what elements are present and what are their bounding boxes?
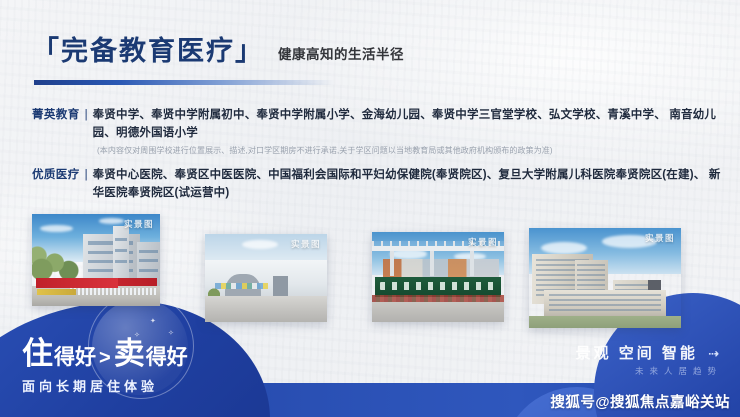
color-panel — [215, 283, 269, 289]
photo-school-main[interactable]: 实景图 — [32, 214, 160, 306]
cloud-shape — [541, 242, 587, 254]
education-disclaimer: (本内容仅对周围学校进行位置展示、描述,对口学区期房不进行承诺,关于学区问题以当… — [97, 144, 722, 158]
medical-separator: | — [80, 166, 93, 184]
bridge-pier — [430, 251, 434, 276]
education-label: 菁英教育 — [32, 106, 80, 124]
arrow-right-icon: ⇢ — [705, 346, 722, 361]
title-accent-bar — [34, 80, 334, 85]
education-separator: | — [80, 106, 93, 124]
slide-header: 「完备教育医疗」 健康高知的生活半径 — [32, 38, 404, 65]
footer-keywords: 景观 空间 智能 — [576, 345, 698, 362]
photo-hospital-campus[interactable]: 实景图 — [529, 228, 681, 328]
photo-kindergarten[interactable]: 实景图 — [205, 234, 327, 322]
photo-stamp: 实景图 — [468, 236, 498, 248]
footer-keywords-row: 景观 空间 智能 ⇢ — [576, 346, 722, 361]
slogan-word-sell: 卖 — [114, 338, 145, 369]
slogan-tagline: 面向长期居住体验 — [22, 376, 188, 395]
medical-list: 奉贤中心医院、奉贤区中医医院、中国福利会国际和平妇幼保健院(奉贤院区)、复旦大学… — [93, 166, 722, 202]
signboard-text — [380, 282, 496, 290]
bridge-pier — [470, 251, 474, 276]
page-subtitle: 健康高知的生活半径 — [278, 43, 404, 65]
photo-ground — [529, 316, 681, 328]
education-list-line1: 奉贤中学、奉贤中学附属初中、奉贤中学附属小学、金海幼儿园、奉贤中学三官堂学校、弘… — [93, 109, 666, 121]
education-group: 菁英教育 | 奉贤中学、奉贤中学附属初中、奉贤中学附属小学、金海幼儿园、奉贤中学… — [32, 106, 722, 158]
info-block: 菁英教育 | 奉贤中学、奉贤中学附属初中、奉贤中学附属小学、金海幼儿园、奉贤中学… — [32, 106, 722, 204]
photo-stamp: 实景图 — [291, 238, 321, 250]
education-list: 奉贤中学、奉贤中学附属初中、奉贤中学附属小学、金海幼儿园、奉贤中学三官堂学校、弘… — [93, 106, 722, 142]
photo-ground — [372, 302, 504, 322]
sparkle-icon: ✧ — [168, 329, 174, 337]
medical-label: 优质医疗 — [32, 166, 80, 184]
sparkle-icon: ✦ — [150, 317, 156, 325]
photo-ground — [205, 296, 327, 322]
red-banner — [36, 278, 118, 287]
footer-slogan-left: 住 得好 > 卖 得好 面向长期居住体验 — [22, 338, 188, 395]
slide-canvas: 「完备教育医疗」 健康高知的生活半径 菁英教育 | 奉贤中学、奉贤中学附属初中、… — [0, 0, 740, 417]
medical-group: 优质医疗 | 奉贤中心医院、奉贤区中医医院、中国福利会国际和平妇幼保健院(奉贤院… — [32, 166, 722, 202]
cloud-shape — [99, 218, 125, 224]
slogan-line-1: 住 得好 > 卖 得好 — [22, 338, 188, 369]
fence-shape — [70, 288, 157, 295]
slogan-word-live: 住 — [22, 338, 53, 369]
podium-shape — [544, 290, 666, 316]
slogan-word-well-2: 得好 — [146, 347, 188, 368]
page-title: 「完备教育医疗」 — [32, 38, 264, 65]
cloud-shape — [242, 240, 279, 250]
building-row — [383, 259, 499, 279]
watermark-text: 搜狐号@搜狐焦点嘉峪关站 — [550, 391, 730, 412]
curb-shape — [37, 289, 75, 295]
flowerbed-shape — [372, 295, 504, 302]
building-shape — [205, 260, 327, 299]
footer-slogan-right: 景观 空间 智能 ⇢ 未来人居趋势 — [576, 346, 722, 377]
education-row: 菁英教育 | 奉贤中学、奉贤中学附属初中、奉贤中学附属小学、金海幼儿园、奉贤中学… — [32, 106, 722, 142]
photo-stamp: 实景图 — [645, 232, 675, 244]
slogan-word-well-1: 得好 — [54, 347, 96, 368]
photo-stamp: 实景图 — [124, 218, 154, 230]
medical-row: 优质医疗 | 奉贤中心医院、奉贤区中医医院、中国福利会国际和平妇幼保健院(奉贤院… — [32, 166, 722, 202]
medical-list-line1: 奉贤中心医院、奉贤区中医医院、中国福利会国际和平妇幼保健院(奉贤院区)、复旦大学… — [93, 169, 706, 181]
photo-hospital-gate[interactable]: 实景图 — [372, 232, 504, 322]
chevron-right-icon: > — [97, 348, 113, 368]
cloud-shape — [40, 225, 73, 233]
footer-keywords-sub: 未来人居趋势 — [576, 365, 722, 377]
bridge-pier — [390, 251, 394, 276]
